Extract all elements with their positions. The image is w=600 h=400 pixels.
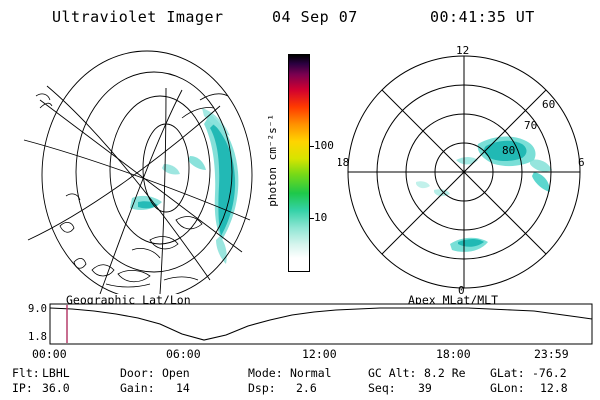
footer-row-2: IP: 36.0 Gain: 14 Dsp: 2.6 Seq: 39 GLon:… [0,381,600,396]
gc-altitude-strip-plot: 9.0 1.8 [6,303,594,345]
footer-glat-label: GLat: [490,366,525,380]
mlat-label-70: 70 [524,119,537,132]
footer-gain-label: Gain: [120,381,155,395]
footer-door-value: Open [162,366,190,380]
mlat-label-60: 60 [542,98,555,111]
footer-gcalt-value: 8.2 Re [424,366,466,380]
footer-ip-label: IP: [12,381,33,395]
footer-gain-value: 14 [176,381,190,395]
footer-mode-value: Normal [290,366,332,380]
mlt-label-6: 6 [578,156,585,169]
footer-dsp-value: 2.6 [296,381,317,395]
apex-map-svg: 12 18 6 0 60 70 80 [338,44,590,294]
footer-glat-value: -76.2 [532,366,567,380]
footer-seq-value: 39 [418,381,432,395]
footer-gcalt-label: GC Alt: [368,366,416,380]
footer-seq-label: Seq: [368,381,396,395]
strip-xtick-1: 06:00 [166,347,201,361]
strip-xtick-4: 23:59 [534,347,569,361]
strip-xtick-3: 18:00 [436,347,471,361]
geographic-map-svg [14,44,266,294]
colorbar-tick-label-100: 100 [314,139,334,152]
colorbar-gradient [288,54,310,272]
footer-status: Flt: LBHL Door: Open Mode: Normal GC Alt… [0,366,600,400]
geographic-map-panel [14,44,266,294]
observation-date: 04 Sep 07 [272,8,358,26]
strip-ytick-9: 9.0 [28,303,47,315]
header: Ultraviolet Imager 04 Sep 07 00:41:35 UT [0,6,600,28]
mlt-label-18: 18 [338,156,349,169]
footer-mode-label: Mode: [248,366,283,380]
footer-flt-label: Flt: [12,366,40,380]
gc-altitude-strip-svg: 9.0 1.8 [6,303,594,345]
footer-ip-value: 36.0 [42,381,70,395]
apex-mlat-mlt-panel: 12 18 6 0 60 70 80 [338,44,590,294]
footer-door-label: Door: [120,366,155,380]
colorbar-tick-label-10: 10 [314,211,327,224]
footer-row-1: Flt: LBHL Door: Open Mode: Normal GC Alt… [0,366,600,381]
mlat-graticule [348,56,580,288]
footer-glon-value: 12.8 [540,381,568,395]
footer-dsp-label: Dsp: [248,381,276,395]
strip-ytick-1: 1.8 [28,331,47,343]
colorbar-axis-label: photon cm⁻²s⁻¹ [266,114,282,207]
geo-aurora-emission [130,108,238,264]
colorbar-gradient-svg [289,55,309,271]
strip-xtick-2: 12:00 [302,347,337,361]
uvi-summary-plot: Ultraviolet Imager 04 Sep 07 00:41:35 UT [0,0,600,400]
observation-time: 00:41:35 UT [430,8,535,26]
geo-coastlines [36,94,228,287]
footer-glon-label: GLon: [490,381,525,395]
strip-xtick-0: 00:00 [32,347,67,361]
colorbar: photon cm⁻²s⁻¹ [270,50,338,290]
mlat-label-80: 80 [502,144,515,157]
instrument-title: Ultraviolet Imager [52,8,224,26]
strip-x-tick-labels: 00:00 06:00 12:00 18:00 23:59 [6,347,594,361]
mlt-label-12: 12 [456,44,469,57]
footer-flt-value: LBHL [42,366,70,380]
mlat-aurora-emission [416,137,552,252]
